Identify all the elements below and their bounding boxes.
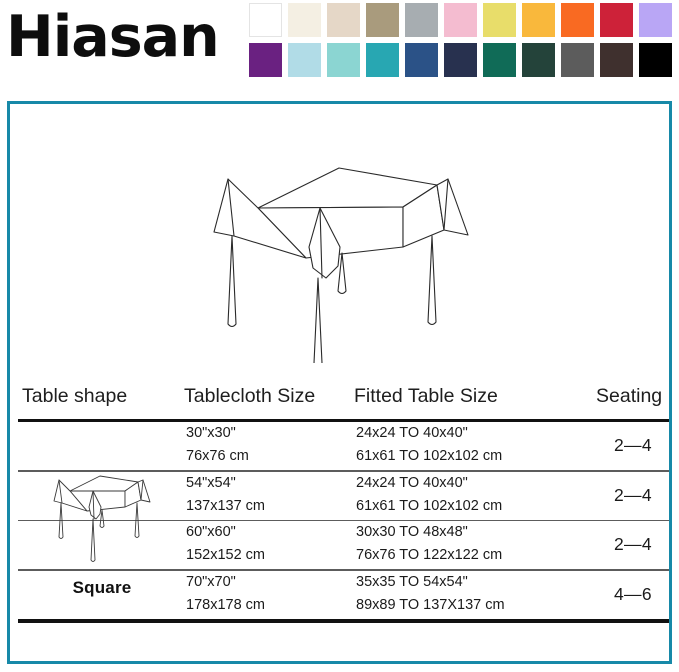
color-swatch-hunter-green[interactable]	[522, 43, 555, 77]
color-swatch-red[interactable]	[600, 3, 633, 37]
size-guide-card: Table shape Tablecloth Size Fitted Table…	[7, 101, 672, 664]
color-swatch-dark-grey[interactable]	[561, 43, 594, 77]
color-swatch-white[interactable]	[249, 3, 282, 37]
color-swatch-denim-blue[interactable]	[405, 43, 438, 77]
cell-seating: 2—4	[614, 435, 652, 456]
fitted-size-cm: 61x61 TO 102x102 cm	[356, 448, 502, 464]
tablecloth-size-cm: 178x178 cm	[186, 597, 265, 613]
column-header-tablecloth: Tablecloth Size	[184, 385, 315, 408]
fitted-size-cm: 61x61 TO 102x102 cm	[356, 498, 502, 514]
swatch-row-1	[249, 3, 675, 37]
fitted-size-cm: 76x76 TO 122x122 cm	[356, 547, 502, 563]
fitted-size-inches: 30x30 TO 48x48"	[356, 524, 468, 540]
fitted-size-inches: 24x24 TO 40x40"	[356, 425, 468, 441]
table-row: 60"x60" 152x152 cm 30x30 TO 48x48" 76x76…	[18, 521, 669, 569]
page-header: Hiasan	[0, 0, 679, 96]
draped-square-table-icon	[192, 148, 492, 363]
color-swatch-light-blue[interactable]	[288, 43, 321, 77]
table-row: 70"x70" 178x178 cm 35x35 TO 54x54" 89x89…	[18, 571, 669, 619]
table-row: 54"x54" 137x137 cm 24x24 TO 40x40" 61x61…	[18, 472, 669, 520]
tablecloth-size-cm: 76x76 cm	[186, 448, 249, 464]
cell-seating: 2—4	[614, 485, 652, 506]
tablecloth-size-inches: 54"x54"	[186, 475, 236, 491]
color-swatch-silver-grey[interactable]	[405, 3, 438, 37]
color-swatch-navy[interactable]	[444, 43, 477, 77]
column-header-seating: Seating	[596, 385, 662, 408]
color-swatch-khaki[interactable]	[366, 3, 399, 37]
color-swatch-purple[interactable]	[249, 43, 282, 77]
column-header-shape: Table shape	[22, 385, 127, 408]
color-swatch-beige[interactable]	[327, 3, 360, 37]
size-guide-card-inner: Table shape Tablecloth Size Fitted Table…	[10, 104, 669, 661]
cell-seating: 2—4	[614, 534, 652, 555]
table-row: 30"x30" 76x76 cm 24x24 TO 40x40" 61x61 T…	[18, 422, 669, 470]
color-swatch-lavender[interactable]	[639, 3, 672, 37]
column-header-fitted: Fitted Table Size	[354, 385, 498, 408]
fitted-size-inches: 35x35 TO 54x54"	[356, 574, 468, 590]
color-swatch-teal[interactable]	[366, 43, 399, 77]
color-swatch-emerald[interactable]	[483, 43, 516, 77]
color-swatch-pink[interactable]	[444, 3, 477, 37]
tablecloth-size-inches: 30"x30"	[186, 425, 236, 441]
size-spec-table: Table shape Tablecloth Size Fitted Table…	[18, 385, 669, 623]
table-body: Square 30"x30" 76x76 cm 24x24 TO 40x40" …	[18, 422, 669, 623]
color-swatch-orange[interactable]	[561, 3, 594, 37]
color-swatch-brown[interactable]	[600, 43, 633, 77]
tablecloth-size-cm: 137x137 cm	[186, 498, 265, 514]
swatch-row-2	[249, 43, 675, 77]
fitted-size-inches: 24x24 TO 40x40"	[356, 475, 468, 491]
color-swatch-aqua[interactable]	[327, 43, 360, 77]
tablecloth-size-cm: 152x152 cm	[186, 547, 265, 563]
brand-logo: Hiasan	[6, 6, 219, 68]
tablecloth-size-inches: 70"x70"	[186, 574, 236, 590]
color-swatch-ivory[interactable]	[288, 3, 321, 37]
color-swatch-black[interactable]	[639, 43, 672, 77]
fitted-size-cm: 89x89 TO 137X137 cm	[356, 597, 505, 613]
table-header-row: Table shape Tablecloth Size Fitted Table…	[18, 385, 669, 417]
color-swatch-yellow[interactable]	[483, 3, 516, 37]
tablecloth-size-inches: 60"x60"	[186, 524, 236, 540]
color-swatch-panel	[249, 3, 675, 83]
color-swatch-gold[interactable]	[522, 3, 555, 37]
hero-illustration	[10, 104, 669, 381]
cell-seating: 4—6	[614, 584, 652, 605]
